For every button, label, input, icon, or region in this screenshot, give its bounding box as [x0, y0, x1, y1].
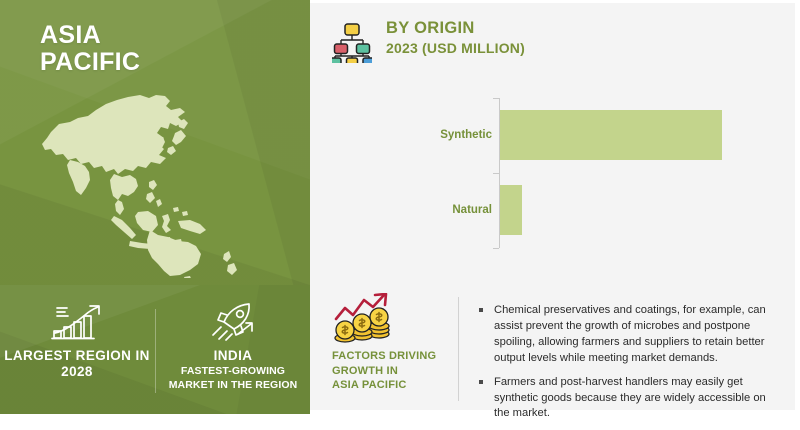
factors-caption-line2: GROWTH IN: [332, 364, 460, 379]
infographic-root: ASIA PACIFIC: [0, 0, 800, 414]
factors-caption-line1: FACTORS DRIVING: [332, 349, 460, 364]
stats-divider: [155, 309, 156, 393]
factors-section: FACTORS DRIVING GROWTH IN ASIA PACIFIC C…: [310, 285, 800, 414]
factors-divider: [458, 297, 459, 401]
region-panel: ASIA PACIFIC: [0, 0, 310, 285]
chart-subtitle: 2023 (USD MILLION): [386, 40, 525, 56]
bar-label-synthetic: Synthetic: [440, 129, 492, 141]
factors-caption: FACTORS DRIVING GROWTH IN ASIA PACIFIC: [332, 349, 460, 393]
stat-fastest-growing-label: INDIA: [158, 348, 308, 364]
stat-fastest-growing: INDIA FASTEST-GROWING MARKET IN THE REGI…: [158, 299, 308, 392]
asia-pacific-map-icon: [18, 78, 298, 278]
factors-caption-block: FACTORS DRIVING GROWTH IN ASIA PACIFIC: [332, 293, 460, 393]
stat-fastest-growing-sub: FASTEST-GROWING MARKET IN THE REGION: [158, 365, 308, 391]
chart-title: BY ORIGIN: [386, 19, 525, 38]
bullet-marker-icon: [479, 380, 483, 384]
page-title: ASIA PACIFIC: [40, 22, 140, 75]
list-item: Farmers and post-harvest handlers may ea…: [478, 375, 773, 423]
bar-synthetic: [500, 110, 722, 160]
bullet-marker-icon: [479, 308, 483, 312]
growth-bar-chart-icon: [2, 299, 152, 341]
bar-label-natural: Natural: [452, 204, 492, 216]
stat-largest-region-label: LARGEST REGION IN 2028: [2, 348, 152, 381]
bar-natural: [500, 185, 522, 235]
axis-tick-bottom: [493, 248, 499, 249]
factors-bullet-list: Chemical preservatives and coatings, for…: [478, 303, 773, 430]
chart-card: BY ORIGIN 2023 (USD MILLION) Synthetic N…: [310, 0, 800, 285]
list-item-text: Chemical preservatives and coatings, for…: [494, 304, 766, 364]
region-title-line2: PACIFIC: [40, 49, 140, 76]
rocket-icon: [158, 299, 308, 341]
region-stats-footer: LARGEST REGION IN 2028 INDIA FASTEST-GR: [0, 285, 310, 414]
org-chart-icon: [332, 21, 372, 63]
stat-largest-region: LARGEST REGION IN 2028: [2, 299, 152, 382]
coins-growth-icon: [332, 293, 460, 345]
list-item: Chemical preservatives and coatings, for…: [478, 303, 773, 367]
region-title-line1: ASIA: [40, 22, 140, 49]
factors-caption-line3: ASIA PACIFIC: [332, 378, 460, 393]
chart-header: BY ORIGIN 2023 (USD MILLION): [332, 19, 525, 63]
chart-axis: [499, 98, 500, 248]
axis-tick-top: [493, 98, 499, 99]
axis-tick-mid: [493, 173, 499, 174]
list-item-text: Farmers and post-harvest handlers may ea…: [494, 376, 766, 420]
